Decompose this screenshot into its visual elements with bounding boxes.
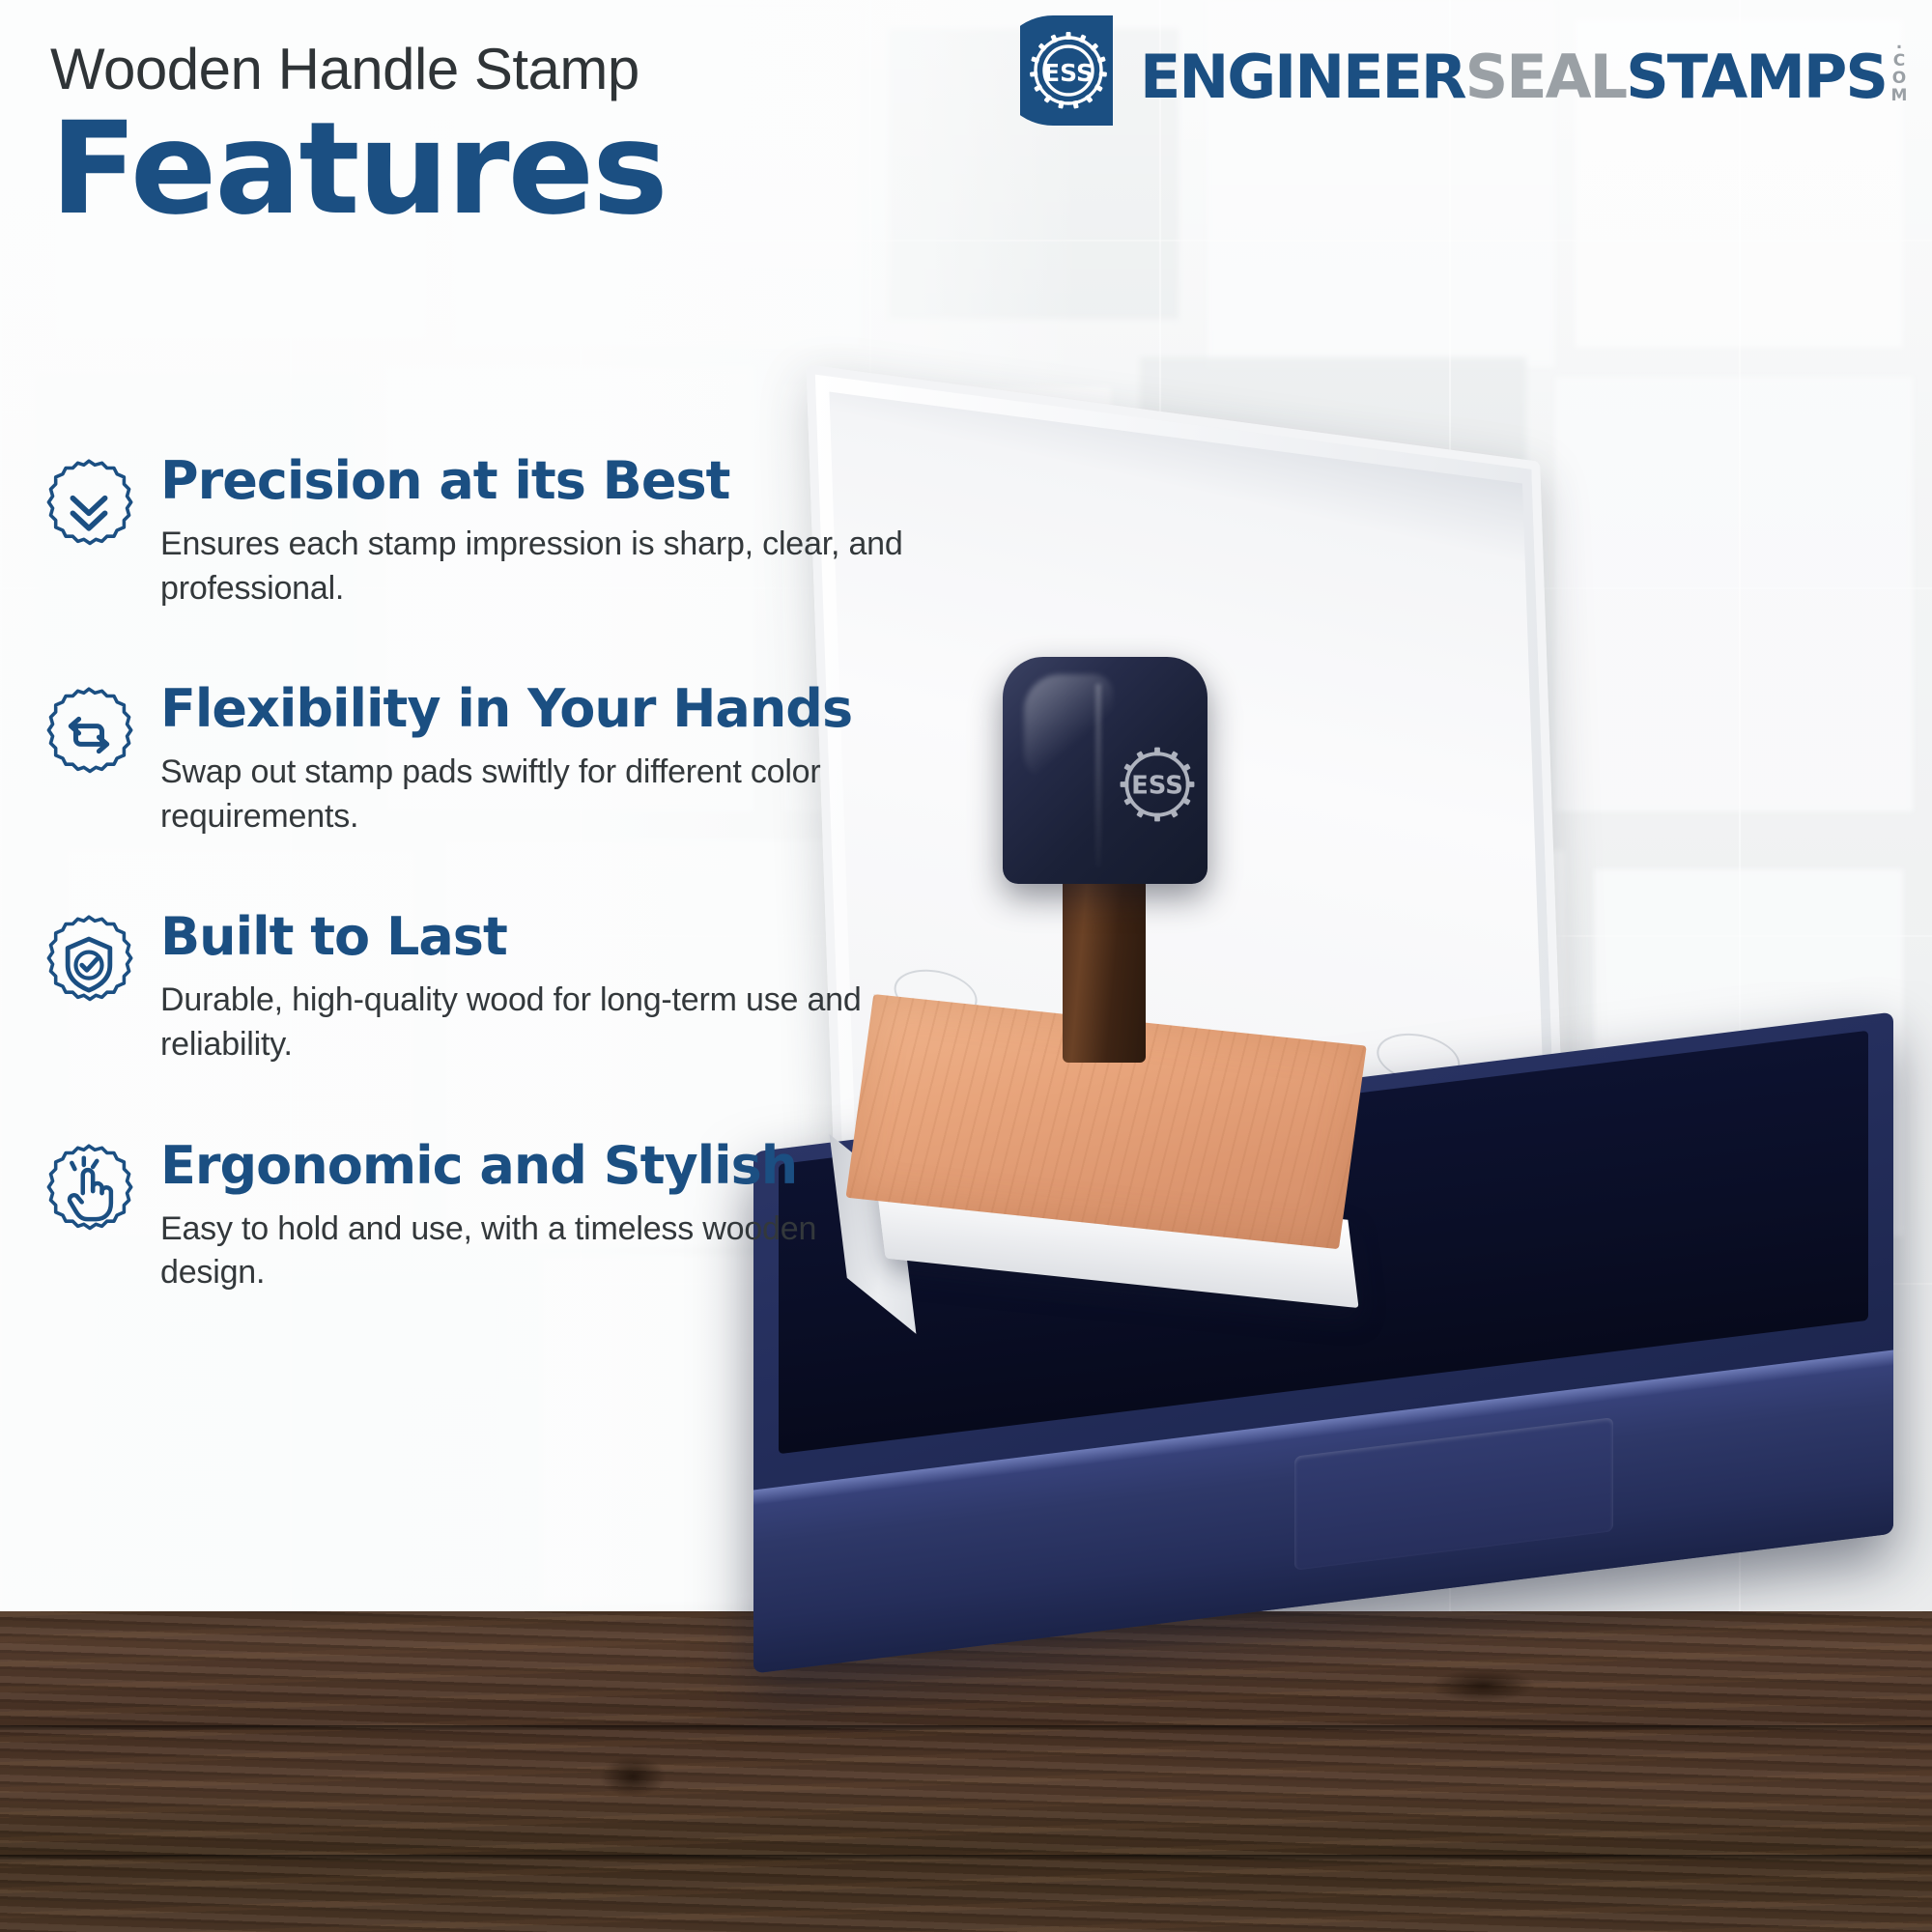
page-title: Features bbox=[50, 107, 1016, 232]
feature-text-flexibility: Flexibility in Your Hands Swap out stamp… bbox=[143, 682, 1063, 838]
feature-item-ergonomics: Ergonomic and Stylish Easy to hold and u… bbox=[39, 1139, 1063, 1295]
feature-description: Durable, high-quality wood for long-term… bbox=[160, 979, 923, 1066]
feature-title: Ergonomic and Stylish bbox=[160, 1139, 1063, 1192]
brand-tld: .COM bbox=[1890, 34, 1907, 103]
svg-text:ESS: ESS bbox=[1131, 772, 1183, 801]
badge-tapping-hand-icon bbox=[39, 1141, 143, 1241]
knob-edge-facet bbox=[1095, 684, 1101, 867]
feature-text-ergonomics: Ergonomic and Stylish Easy to hold and u… bbox=[143, 1139, 1063, 1295]
feature-description: Easy to hold and use, with a timeless wo… bbox=[160, 1207, 923, 1295]
brand-word-engineer: ENGINEER bbox=[1140, 47, 1465, 107]
logo-mark-text: ESS bbox=[1043, 59, 1094, 87]
feature-item-durability: Built to Last Durable, high-quality wood… bbox=[39, 910, 1063, 1066]
feature-title: Precision at its Best bbox=[160, 454, 1063, 507]
feature-description: Swap out stamp pads swiftly for differen… bbox=[160, 751, 923, 838]
brand-word-seal: SEAL bbox=[1465, 47, 1627, 107]
ess-seal-logo-icon: ESS bbox=[1020, 14, 1134, 128]
product-photo: ESS bbox=[918, 415, 1932, 1662]
badge-swap-arrows-icon bbox=[39, 684, 143, 784]
feature-text-precision: Precision at its Best Ensures each stamp… bbox=[143, 454, 1063, 611]
feature-item-flexibility: Flexibility in Your Hands Swap out stamp… bbox=[39, 682, 1063, 838]
feature-item-precision: Precision at its Best Ensures each stamp… bbox=[39, 454, 1063, 611]
badge-shield-check-icon bbox=[39, 912, 143, 1012]
badge-chevrons-down-icon bbox=[39, 456, 143, 556]
header-subtitle: Wooden Handle Stamp bbox=[50, 39, 1016, 99]
feature-list: Precision at its Best Ensures each stamp… bbox=[39, 454, 1063, 1295]
feature-title: Flexibility in Your Hands bbox=[160, 682, 1063, 735]
poster-stage: ESS Wooden Handle Stamp Features bbox=[0, 0, 1932, 1932]
knob-ess-gear-icon: ESS bbox=[1111, 738, 1204, 831]
brand-wordmark: ENGINEER SEAL STAMPS .COM bbox=[1140, 34, 1907, 107]
feature-description: Ensures each stamp impression is sharp, … bbox=[160, 523, 923, 611]
page-header: Wooden Handle Stamp Features bbox=[50, 39, 1016, 232]
brand-word-stamps: STAMPS bbox=[1626, 47, 1887, 107]
feature-text-durability: Built to Last Durable, high-quality wood… bbox=[143, 910, 1063, 1066]
feature-title: Built to Last bbox=[160, 910, 1063, 963]
brand-logo[interactable]: ESS ENGINEER SEAL STAMPS .COM bbox=[1020, 14, 1907, 128]
